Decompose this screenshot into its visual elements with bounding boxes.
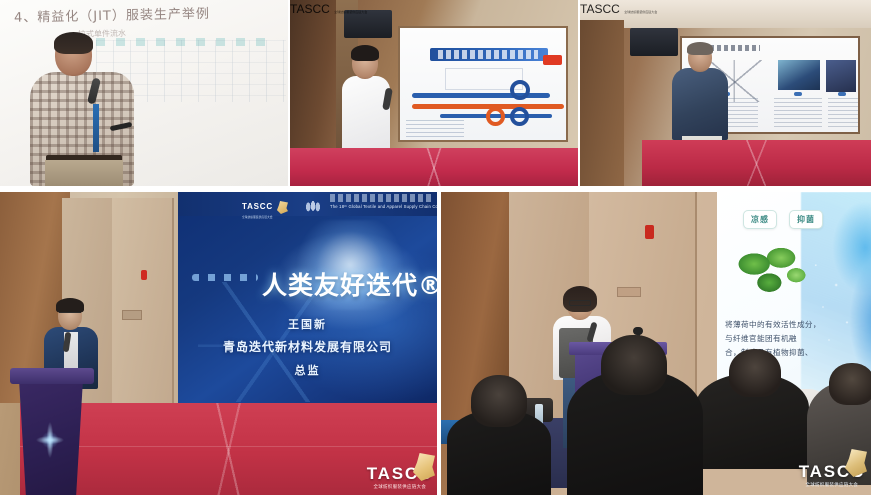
- ceiling-speaker-icon: [344, 10, 392, 38]
- slide-badge-antibacterial: 抑菌: [789, 210, 823, 229]
- slide-body-line-2: 与纤维官能团有机融: [725, 332, 865, 346]
- door-sign: [122, 310, 142, 320]
- tascc-logo-subtitle: 全球纺织服装供应链大会: [334, 10, 367, 14]
- slide-header-title-text: [438, 50, 538, 59]
- speaker-hair: [351, 45, 379, 61]
- speaker-hair: [56, 298, 84, 313]
- slide-timeline-blue: [412, 93, 550, 98]
- photo-panel-presentation-young-speaker: TASCC 全球纺织服装供应链大会: [290, 0, 578, 186]
- photo-collage: 4、精益化（JIT）服装生产举例 拉式单件流水: [0, 0, 871, 495]
- slide-text-column-3: [828, 98, 858, 130]
- door-sign: [617, 287, 641, 297]
- tascc-logo-text: TASCC: [580, 2, 620, 16]
- audience-head: [729, 349, 781, 397]
- tascc-corner-logo-subtitle: 全球纺织服装供应链大会: [367, 485, 433, 489]
- podium-top-surface: [10, 368, 94, 384]
- backdrop-dot-accents: [192, 274, 258, 281]
- speaker-glasses-icon: [59, 312, 81, 317]
- lanyard-badge: [93, 104, 99, 152]
- slide-body-line-1: 将薄荷中的有效活性成分，: [725, 318, 865, 332]
- room-door-right: [112, 198, 174, 416]
- audience-head: [471, 375, 527, 427]
- speaker-hair: [54, 32, 93, 54]
- conference-backdrop: TASCC 全球纺织服装供应链大会 The 18ᵗʰ Global Textil…: [178, 192, 437, 414]
- speaker-blazer: [672, 68, 728, 140]
- backdrop-seal-icon: [277, 201, 288, 214]
- mint-leaf-image: [729, 238, 813, 300]
- speaker-trousers: [45, 160, 123, 186]
- slide-marker-3: [838, 92, 846, 96]
- slide-timeline-orange: [412, 104, 564, 109]
- slide-product-photo-2: [826, 60, 856, 92]
- audience-head: [829, 363, 871, 405]
- microphone-head-icon: [633, 327, 643, 335]
- wood-wall-left: [580, 20, 624, 186]
- projection-screen: [398, 26, 568, 142]
- backdrop-header-cn-title: [330, 194, 434, 202]
- slide-body-text-block: [406, 120, 464, 138]
- corner-watermark: [248, 154, 278, 180]
- photo-panel-keynote-blue-backdrop: TASCC 全球纺织服装供应链大会 The 18ᵗʰ Global Textil…: [0, 192, 437, 495]
- photo-panel-presentation-blazer-speaker: TASCC 全球纺织服装供应链大会: [580, 0, 871, 186]
- slide-marker-2: [794, 92, 802, 96]
- stage-seam-lines: [290, 148, 578, 186]
- backdrop-tascc-logo-text: TASCC: [242, 202, 273, 211]
- speaker-shirt: [342, 76, 390, 152]
- backdrop-tascc-logo-subtitle: 全球纺织服装供应链大会: [242, 215, 273, 219]
- fire-alarm-icon: [645, 225, 654, 239]
- backdrop-speaker-role: 总监: [178, 362, 437, 378]
- tascc-corner-logo-subtitle: 全球纺织服装供应链大会: [799, 483, 865, 487]
- slide-ring-blue-lower: [510, 107, 529, 126]
- fire-alarm-icon: [141, 270, 147, 280]
- slide-text-column-2: [774, 98, 822, 130]
- photo-panel-keynote-audience-view: 凉感 抑菌 将薄荷中的有效活性成分， 与纤维官能团有机融 合，制成具有植物抑菌、: [441, 192, 871, 495]
- ceiling-speaker-icon: [630, 28, 678, 56]
- speaker-hair: [687, 42, 713, 55]
- stage-seam-lines: [642, 140, 871, 186]
- tascc-corner-logo: TASCC 全球纺织服装供应链大会: [367, 465, 433, 489]
- slide-header-tag: [543, 55, 562, 65]
- tascc-logo-text: TASCC: [290, 2, 330, 16]
- slide-ring-orange: [486, 107, 505, 126]
- slide-badge-cooling: 凉感: [743, 210, 777, 229]
- tascc-logo-subtitle: 全球纺织服装供应链大会: [624, 10, 657, 14]
- speaker-hair: [563, 286, 597, 312]
- photo-panel-whiteboard-lecture: 4、精益化（JIT）服装生产举例 拉式单件流水: [0, 0, 288, 186]
- audience-head: [601, 335, 667, 395]
- backdrop-header-en-title: The 18ᵗʰ Global Textile and Apparel Supp…: [330, 204, 434, 209]
- podium-star-graphic: [26, 412, 74, 468]
- lotus-icon: [303, 196, 323, 212]
- backdrop-speaker-name: 王国新: [178, 316, 437, 332]
- speaker-glasses-icon: [569, 300, 591, 306]
- slide-ring-blue-upper: [510, 80, 530, 100]
- slide-product-photo-1: [778, 60, 820, 90]
- backdrop-presentation-title: 人类友好迭代®涤: [262, 266, 437, 302]
- backdrop-company-name: 青岛迭代新材料发展有限公司: [178, 338, 437, 355]
- tascc-corner-logo: TASCC 全球纺织服装供应链大会: [799, 463, 865, 487]
- backdrop-tascc-logo: TASCC 全球纺织服装供应链大会: [242, 196, 288, 219]
